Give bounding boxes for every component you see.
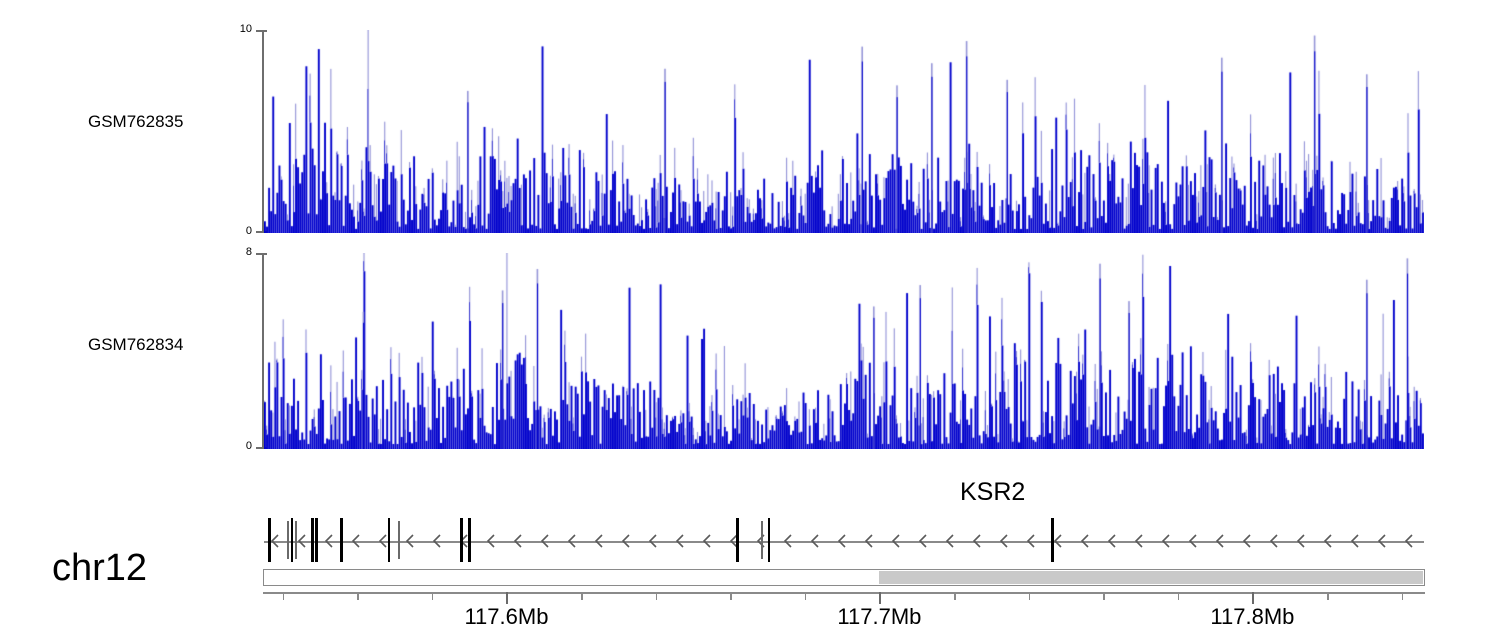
exon-marker[interactable] <box>388 518 391 562</box>
exon-marker[interactable] <box>1051 518 1054 562</box>
exon-marker[interactable] <box>468 518 471 562</box>
coverage-histogram-gsm762834 <box>264 253 1424 449</box>
track-label-gsm762835: GSM762835 <box>88 112 183 132</box>
exon-marker[interactable] <box>768 518 771 562</box>
gene-name-label: KSR2 <box>960 478 1025 507</box>
ruler-label: 117.7Mb <box>837 604 921 630</box>
ruler-tick-minor <box>730 592 732 600</box>
plot-area-gsm762834[interactable] <box>264 253 1424 449</box>
ruler-tick-minor <box>357 592 359 600</box>
ruler-tick-group <box>0 592 1500 604</box>
exon-layer <box>264 515 1424 567</box>
ruler-label: 117.6Mb <box>464 604 548 630</box>
ruler-tick-major <box>879 592 881 604</box>
ruler-tick-minor <box>954 592 956 600</box>
exon-marker[interactable] <box>311 518 314 562</box>
exon-marker[interactable] <box>761 521 763 559</box>
chromosome-label: chr12 <box>52 547 147 590</box>
ruler-tick-major <box>506 592 508 604</box>
exon-marker[interactable] <box>287 521 289 559</box>
yaxis-min-label-track2: 0 <box>218 441 252 451</box>
ruler-label-group: 117.6Mb117.7Mb117.8Mb <box>0 604 1500 634</box>
exon-marker[interactable] <box>340 518 343 562</box>
ruler-tick-major <box>1252 592 1254 604</box>
ruler-tick-minor <box>1103 592 1105 600</box>
exon-marker[interactable] <box>460 518 463 562</box>
coverage-histogram-gsm762835 <box>264 30 1424 233</box>
yaxis-max-label-track1: 10 <box>218 24 252 34</box>
ruler-tick-minor <box>1402 592 1404 600</box>
ruler-tick-minor <box>656 592 658 600</box>
genome-browser-view: GSM762835 10 0 GSM762834 8 0 KSR2 chr12 <box>0 0 1500 640</box>
track-label-gsm762834: GSM762834 <box>88 335 183 355</box>
exon-marker[interactable] <box>268 518 271 562</box>
exon-marker[interactable] <box>398 521 400 559</box>
yaxis-min-label-track1: 0 <box>218 226 252 236</box>
ideogram-fill-region <box>879 571 1423 584</box>
yaxis-max-label-track2: 8 <box>218 247 252 257</box>
ruler-tick-minor <box>283 592 285 600</box>
ruler-tick-minor <box>581 592 583 600</box>
exon-marker[interactable] <box>736 518 739 562</box>
ruler-tick-minor <box>432 592 434 600</box>
ruler-tick-minor <box>1029 592 1031 600</box>
exon-marker[interactable] <box>291 518 294 562</box>
exon-marker[interactable] <box>315 518 318 562</box>
ruler-tick-minor <box>805 592 807 600</box>
plot-area-gsm762835[interactable] <box>264 30 1424 233</box>
ruler-tick-minor <box>1327 592 1329 600</box>
ruler-tick-minor <box>1178 592 1180 600</box>
ruler-label: 117.8Mb <box>1210 604 1294 630</box>
exon-marker[interactable] <box>295 521 297 559</box>
